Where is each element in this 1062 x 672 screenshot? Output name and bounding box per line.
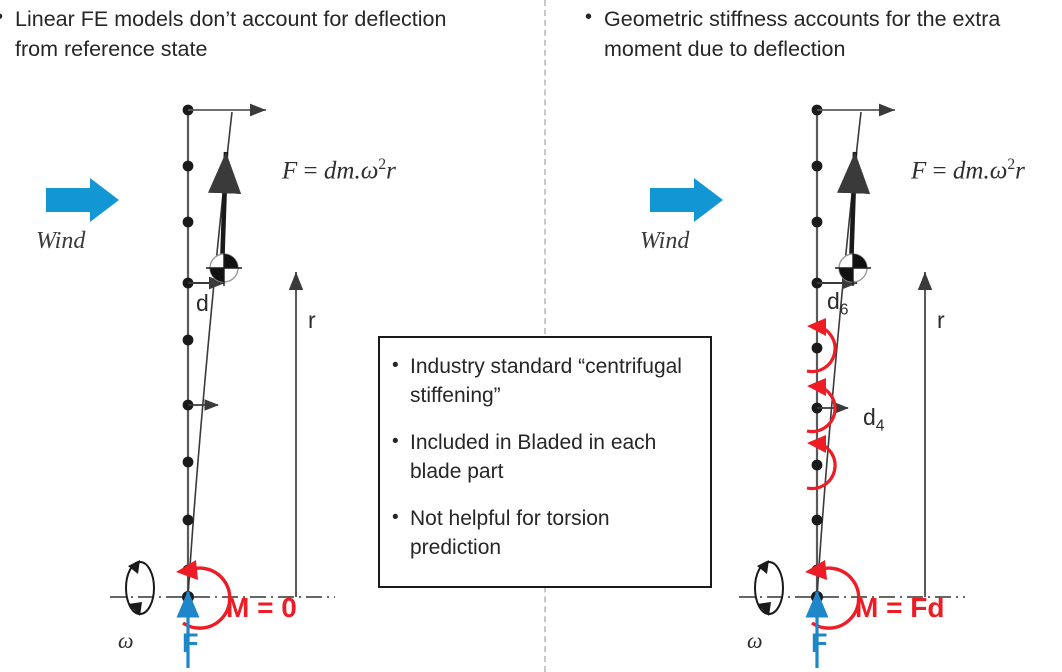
d6-base: d: [827, 288, 840, 314]
radius-label-r: r: [937, 307, 945, 334]
deflection-label-d: d: [196, 290, 209, 317]
bullet-marker-icon: •: [384, 428, 410, 456]
moment-label-left: M = 0: [226, 592, 297, 624]
force-label-left: F: [182, 628, 199, 659]
force-formula-left: F = dm.ω2r: [282, 156, 396, 185]
d4-base: d: [863, 404, 876, 430]
d4-subscript: 4: [876, 418, 885, 435]
deflection-label-d4: d4: [863, 404, 885, 436]
moment-label-right: M = Fd: [855, 592, 944, 624]
omega-rotation-icon: [126, 560, 154, 616]
deflection-label-d6: d6: [827, 288, 849, 320]
info-box-item: • Industry standard “centrifugal stiffen…: [384, 352, 704, 410]
force-label-right: F: [811, 628, 828, 659]
bullet-marker-icon: •: [384, 504, 410, 532]
omega-rotation-icon: [755, 560, 783, 616]
force-formula-right: F = dm.ω2r: [911, 156, 1025, 185]
omega-label: ω: [747, 628, 763, 654]
formula-eq: =: [933, 157, 947, 184]
omega-label: ω: [118, 628, 134, 654]
bullet-marker-icon: •: [384, 352, 410, 380]
d6-subscript: 6: [840, 302, 849, 319]
radius-label-r: r: [308, 307, 316, 334]
formula-eq: =: [304, 157, 318, 184]
formula-lhs: F: [282, 157, 297, 184]
formula-omega: ω: [361, 157, 379, 184]
formula-exponent: 2: [1007, 156, 1015, 173]
info-box-item: • Not helpful for torsion prediction: [384, 504, 704, 562]
formula-radius: r: [386, 157, 396, 184]
info-box-item-text: Included in Bladed in each blade part: [410, 428, 704, 486]
info-box-item-text: Industry standard “centrifugal stiffenin…: [410, 352, 704, 410]
info-box-item: • Included in Bladed in each blade part: [384, 428, 704, 486]
formula-rhs: dm.: [953, 157, 990, 184]
formula-lhs: F: [911, 157, 926, 184]
formula-radius: r: [1015, 157, 1025, 184]
info-box-list: • Industry standard “centrifugal stiffen…: [380, 338, 710, 562]
formula-omega: ω: [990, 157, 1008, 184]
info-box-item-text: Not helpful for torsion prediction: [410, 504, 704, 562]
info-callout-box: • Industry standard “centrifugal stiffen…: [378, 336, 712, 588]
formula-exponent: 2: [378, 156, 386, 173]
formula-rhs: dm.: [324, 157, 361, 184]
